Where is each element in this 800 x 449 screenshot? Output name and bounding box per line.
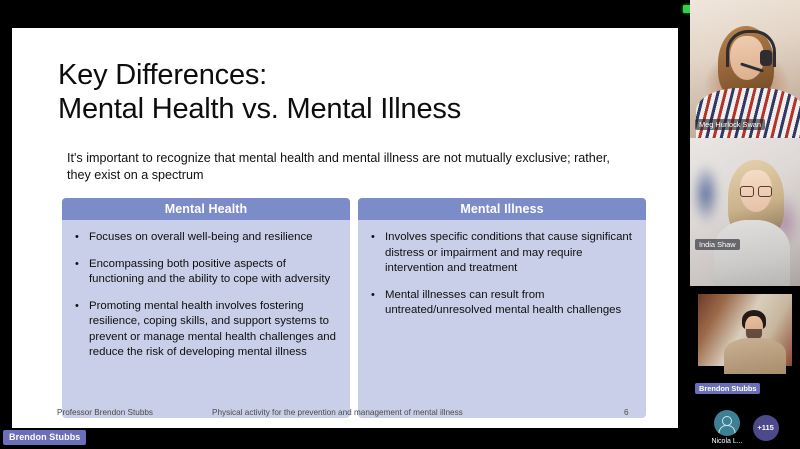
participant-avatar-item[interactable]: Nicola L... <box>711 410 742 445</box>
participant-name-label-active: Brendon Stubbs <box>695 383 760 394</box>
bullet-dot-icon: • <box>72 230 89 246</box>
bullet-dot-icon: • <box>368 288 385 319</box>
bullet-dot-icon: • <box>368 230 385 277</box>
slide-title: Key Differences: Mental Health vs. Menta… <box>58 58 658 126</box>
avatar-row: Nicola L... +115 <box>690 406 800 449</box>
participant-overflow-tile[interactable]: Nicola L... +115 <box>690 406 800 449</box>
meeting-screen: Key Differences: Mental Health vs. Menta… <box>0 0 800 449</box>
overflow-participants-count[interactable]: +115 <box>753 415 779 441</box>
column-header-mental-health: Mental Health <box>62 198 350 220</box>
footer-page-number: 6 <box>624 403 629 423</box>
column-body-mental-illness: • Involves specific conditions that caus… <box>358 220 646 329</box>
shared-content-stage: Key Differences: Mental Health vs. Menta… <box>0 0 690 449</box>
glasses-icon <box>740 186 772 195</box>
decorative-torso <box>714 220 790 286</box>
bullet-dot-icon: • <box>72 257 89 288</box>
participant-filmstrip: Meg Hurlock Swan India Shaw Brendon Stub… <box>690 0 800 449</box>
decorative-background-blur <box>692 164 720 224</box>
headset-earcup-icon <box>760 50 772 66</box>
bullet-text: Involves specific conditions that cause … <box>385 230 634 277</box>
participant-video <box>690 138 800 286</box>
bullet-dot-icon: • <box>72 299 89 361</box>
footer-deck-title: Physical activity for the prevention and… <box>212 403 463 423</box>
active-speaker-badge: Brendon Stubbs <box>3 430 86 445</box>
bullet-text: Encompassing both positive aspects of fu… <box>89 257 338 288</box>
person-avatar-icon <box>714 410 740 436</box>
participant-tile[interactable]: Brendon Stubbs <box>690 286 800 406</box>
comparison-column-mental-illness: Mental Illness • Involves specific condi… <box>358 198 646 418</box>
list-item: • Encompassing both positive aspects of … <box>72 257 338 288</box>
participant-video <box>698 294 792 366</box>
list-item: • Focuses on overall well-being and resi… <box>72 230 338 246</box>
bullet-text: Mental illnesses can result from untreat… <box>385 288 634 319</box>
column-header-mental-illness: Mental Illness <box>358 198 646 220</box>
bullet-text: Focuses on overall well-being and resili… <box>89 230 338 246</box>
participant-name-label: Meg Hurlock Swan <box>695 119 765 130</box>
participant-tile[interactable]: Meg Hurlock Swan <box>690 0 800 138</box>
decorative-torso <box>724 338 786 374</box>
bullet-text: Promoting mental health involves fosteri… <box>89 299 338 361</box>
slide-title-line-1: Key Differences: <box>58 58 658 92</box>
list-item: • Mental illnesses can result from untre… <box>368 288 634 319</box>
presentation-slide: Key Differences: Mental Health vs. Menta… <box>12 28 678 428</box>
list-item: • Promoting mental health involves foste… <box>72 299 338 361</box>
avatar-body-shape <box>719 425 736 433</box>
slide-subtitle: It's important to recognize that mental … <box>67 150 627 184</box>
decorative-torso <box>696 88 800 138</box>
slide-footer: Professor Brendon Stubbs Physical activi… <box>12 403 678 423</box>
participant-tile[interactable]: India Shaw <box>690 138 800 286</box>
comparison-column-mental-health: Mental Health • Focuses on overall well-… <box>62 198 350 418</box>
participant-video <box>690 0 800 138</box>
participant-name-label: India Shaw <box>695 239 740 250</box>
list-item: • Involves specific conditions that caus… <box>368 230 634 277</box>
slide-title-line-2: Mental Health vs. Mental Illness <box>58 92 658 126</box>
column-body-mental-health: • Focuses on overall well-being and resi… <box>62 220 350 371</box>
footer-author: Professor Brendon Stubbs <box>57 403 153 423</box>
avatar-name-label: Nicola L... <box>711 438 742 445</box>
